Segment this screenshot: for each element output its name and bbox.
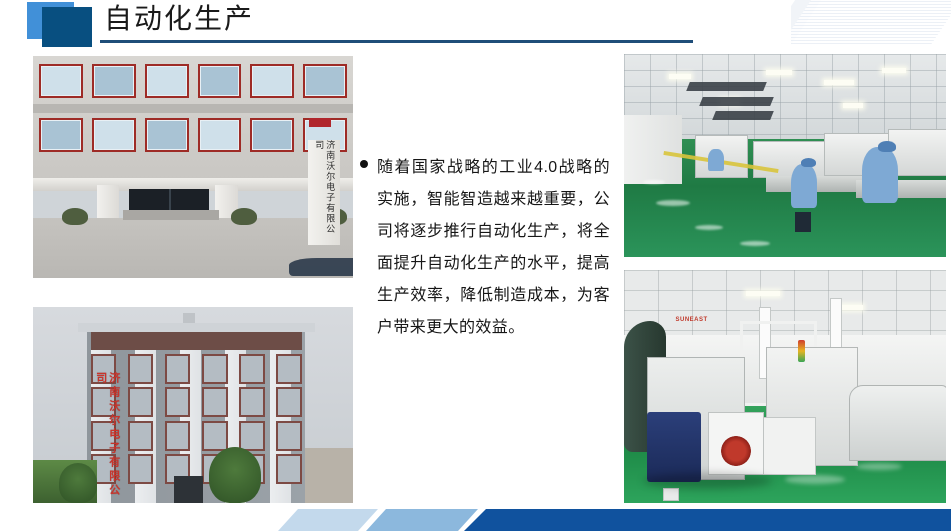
tower-sign-text: 济南沃尔电子有限公司 <box>94 372 120 503</box>
photo-smt-line: SUNEAST <box>624 270 946 503</box>
building-number-plate <box>309 118 331 127</box>
photo-office-tower: 济南沃尔电子有限公司 <box>33 307 353 503</box>
machine-brand-logo: SUNEAST <box>676 317 708 323</box>
slide: 自动化生产 <box>0 0 951 531</box>
photo-office-front: 济南沃尔电子有限公司 <box>33 56 353 278</box>
bullet-dot-icon <box>360 160 368 168</box>
photo-assembly-floor <box>624 54 946 257</box>
corner-watermark-graphic <box>791 0 951 46</box>
body-bullet-item: 随着国家战略的工业4.0战略的实施，智能智造越来越重要，公司将逐步推行自动化生产… <box>360 152 610 344</box>
worker-figure <box>708 149 724 171</box>
page-title: 自动化生产 <box>104 2 254 38</box>
title-underline <box>100 40 693 43</box>
footer-band <box>0 509 951 531</box>
body-text: 随着国家战略的工业4.0战略的实施，智能智造越来越重要，公司将逐步推行自动化生产… <box>377 152 610 344</box>
footer-stripe-dark <box>464 509 951 531</box>
building-sign-text: 济南沃尔电子有限公司 <box>313 140 335 244</box>
title-accent-square-dark <box>42 7 92 47</box>
worker-figure <box>862 147 898 203</box>
footer-stripe-medium <box>366 509 478 531</box>
machine-emblem <box>721 436 751 466</box>
building-sign-column: 济南沃尔电子有限公司 <box>308 140 340 244</box>
footer-stripe-light <box>278 509 378 531</box>
worker-figure <box>791 164 817 208</box>
